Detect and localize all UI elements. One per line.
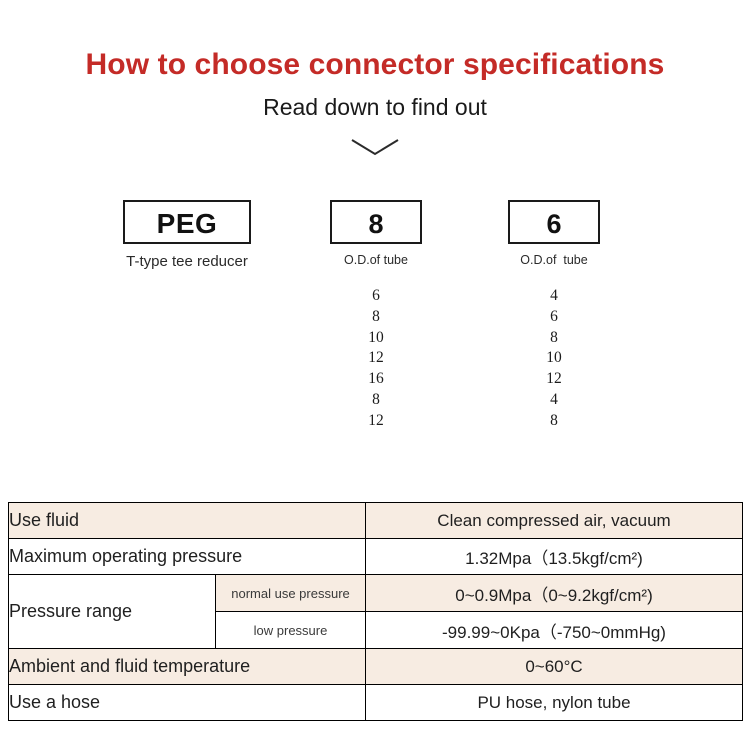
list-item[interactable]: 10: [330, 328, 422, 349]
table-row: Maximum operating pressure 1.32Mpa（13.5k…: [9, 539, 743, 575]
od-2-box[interactable]: 6: [508, 200, 600, 244]
list-item[interactable]: 12: [508, 369, 600, 390]
list-item[interactable]: 8: [508, 411, 600, 432]
table-row: Use fluid Clean compressed air, vacuum: [9, 503, 743, 539]
list-item[interactable]: 10: [508, 348, 600, 369]
row-value: PU hose, nylon tube: [366, 685, 743, 721]
row-value: 0~60°C: [366, 649, 743, 685]
table-row: Ambient and fluid temperature 0~60°C: [9, 649, 743, 685]
selector-column-od-1: 8 O.D.of tube: [330, 200, 422, 267]
row-sublabel: normal use pressure: [216, 575, 366, 612]
option-list-od-1: 6 8 10 12 16 8 12: [330, 286, 422, 432]
row-label: Use a hose: [9, 685, 366, 721]
row-label-pressure-range: Pressure range: [9, 575, 216, 649]
row-label: Use fluid: [9, 503, 366, 539]
table-row: Pressure range normal use pressure 0~0.9…: [9, 575, 743, 612]
od-2-caption: O.D.of tube: [508, 253, 600, 267]
row-value: 1.32Mpa（13.5kgf/cm²): [366, 539, 743, 575]
list-item[interactable]: 6: [508, 307, 600, 328]
list-item[interactable]: 8: [508, 328, 600, 349]
table-row: Use a hose PU hose, nylon tube: [9, 685, 743, 721]
specification-table: Use fluid Clean compressed air, vacuum M…: [8, 502, 743, 721]
list-item[interactable]: 4: [508, 390, 600, 411]
list-item[interactable]: 12: [330, 348, 422, 369]
list-item[interactable]: 4: [508, 286, 600, 307]
row-sublabel: low pressure: [216, 612, 366, 649]
code-caption: T-type tee reducer: [123, 253, 251, 270]
page-subtitle: Read down to find out: [0, 95, 750, 120]
header-block: How to choose connector specifications R…: [0, 48, 750, 120]
chevron-down-icon: [349, 136, 401, 158]
od-1-box[interactable]: 8: [330, 200, 422, 244]
row-label: Ambient and fluid temperature: [9, 649, 366, 685]
code-box[interactable]: PEG: [123, 200, 251, 244]
list-item[interactable]: 6: [330, 286, 422, 307]
chevron-down-icon-wrapper: [0, 136, 750, 166]
selector-column-code: PEG T-type tee reducer: [123, 200, 251, 270]
page-title: How to choose connector specifications: [0, 48, 750, 81]
row-label: Maximum operating pressure: [9, 539, 366, 575]
list-item[interactable]: 16: [330, 369, 422, 390]
row-value: 0~0.9Mpa（0~9.2kgf/cm²): [366, 575, 743, 612]
option-list-od-2: 4 6 8 10 12 4 8: [508, 286, 600, 432]
list-item[interactable]: 12: [330, 411, 422, 432]
list-item[interactable]: 8: [330, 307, 422, 328]
row-value: -99.99~0Kpa（-750~0mmHg): [366, 612, 743, 649]
list-item[interactable]: 8: [330, 390, 422, 411]
row-value: Clean compressed air, vacuum: [366, 503, 743, 539]
selector-row: PEG T-type tee reducer 8 O.D.of tube 6 O…: [0, 200, 750, 290]
od-1-caption: O.D.of tube: [330, 253, 422, 267]
selector-column-od-2: 6 O.D.of tube: [508, 200, 600, 267]
